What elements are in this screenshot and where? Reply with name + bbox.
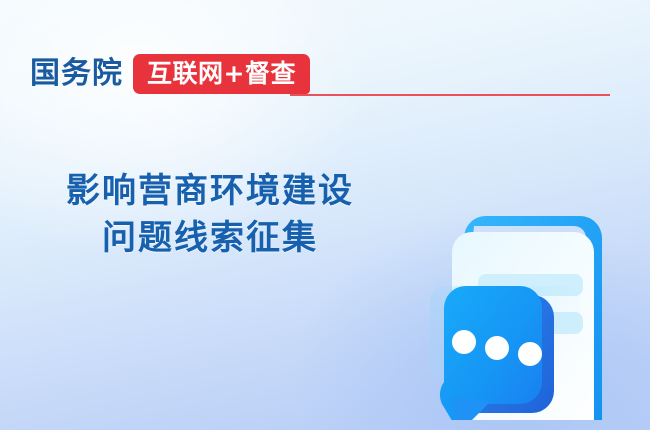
banner-header: 国务院 互联网+督查 xyxy=(0,52,650,100)
page-title-line-2: 问题线索征集 xyxy=(0,215,420,262)
bubble-blue-dot-2 xyxy=(485,336,509,360)
page-title-line-1: 影响营商环境建设 xyxy=(0,168,420,215)
promo-banner: 国务院 互联网+督查 影响营商环境建设 问题线索征集 xyxy=(0,0,650,430)
header-divider-rule xyxy=(290,94,610,96)
bubble-blue-dot-3 xyxy=(518,342,542,366)
internet-plus-supervision-badge: 互联网+督查 xyxy=(133,54,310,94)
chat-bubbles-illustration xyxy=(390,190,650,420)
banner-title: 影响营商环境建设 问题线索征集 xyxy=(0,168,420,262)
gov-council-logo-text: 国务院 xyxy=(30,52,123,96)
message-bubble-blue xyxy=(440,286,554,420)
bubble-blue-dot-1 xyxy=(452,330,476,354)
